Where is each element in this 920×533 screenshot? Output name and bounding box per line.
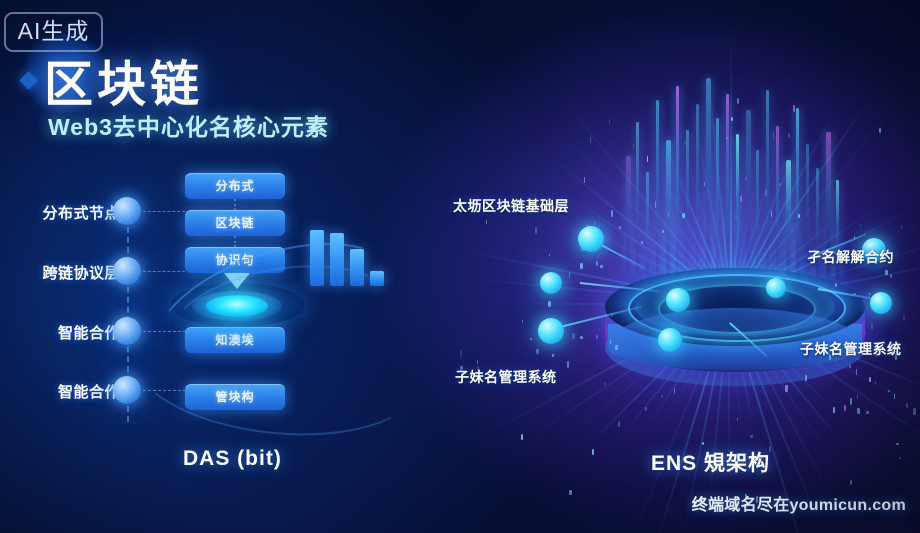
sparkle-dot (879, 128, 881, 133)
sparkle-dot (604, 383, 606, 385)
sparkle-dot (860, 224, 861, 227)
ens-label-base-layer: 太坜区块链基础层 (453, 196, 569, 216)
sparkle-dot (869, 377, 871, 382)
das-connector-2 (143, 271, 185, 272)
sparkle-dot (737, 98, 739, 104)
sparkle-dot (684, 141, 686, 145)
sparkle-dot (737, 418, 738, 421)
das-label-distributed-node: 分布式节点 (0, 202, 120, 223)
sparkle-dot (773, 133, 774, 139)
das-flowlink-1 (234, 199, 236, 210)
sparkle-dot (704, 182, 705, 186)
bar-chart-bar (330, 233, 344, 286)
das-label-smart-contract-2: 智能合作 (0, 381, 120, 402)
sparkle-dot (866, 411, 869, 414)
sparkle-dot (477, 360, 478, 364)
sparkle-dot (567, 361, 569, 368)
ens-node-mid-left[interactable] (540, 272, 562, 294)
sparkle-dot (835, 283, 837, 287)
ens-node-lower-right[interactable] (870, 292, 892, 314)
sparkle-dot (844, 405, 846, 411)
sparkle-dot (785, 385, 788, 392)
sparkle-dot (793, 105, 795, 112)
sparkle-dot (600, 265, 603, 268)
ens-node-upper-left[interactable] (578, 226, 604, 252)
sparkle-dot (702, 442, 704, 445)
sparkle-dot (890, 274, 892, 278)
slide-canvas: 太坜区块链基础层 孑名解解合约 子妹名管理系统 子妹名管理系统 分布式节点 跨链… (0, 0, 920, 533)
ai-generated-badge: AI生成 (4, 12, 103, 52)
sparkle-dot (569, 490, 572, 495)
sparkle-dot (610, 340, 611, 344)
sparkle-dot (682, 213, 685, 218)
sparkle-dot (885, 270, 888, 275)
ens-node-platform-right[interactable] (766, 278, 786, 298)
sparkle-dot (875, 381, 876, 384)
ens-architecture-diagram (430, 60, 920, 480)
das-node-dot-2[interactable] (113, 257, 141, 285)
sparkle-dot (486, 220, 487, 224)
sparkle-dot (647, 156, 648, 162)
sparkle-dot (894, 394, 895, 399)
sparkle-dot (856, 369, 857, 375)
sparkle-dot (590, 137, 591, 143)
sparkle-dot (906, 403, 908, 408)
sparkle-dot (745, 177, 747, 180)
das-flowbox-distributed[interactable]: 分布式 (185, 173, 285, 199)
sparkle-dot (633, 144, 634, 147)
sparkle-particles (430, 60, 920, 480)
sparkle-dot (522, 320, 523, 323)
sparkle-dot (611, 210, 613, 217)
sparkle-dot (869, 293, 870, 295)
sparkle-dot (521, 434, 523, 440)
sparkle-dot (580, 336, 583, 339)
page-subtitle: Web3去中心化名核心元素 (48, 108, 329, 142)
das-label-crosschain-layer: 跨链协议层 (0, 262, 120, 283)
sparkle-dot (584, 177, 585, 183)
sparkle-dot (594, 222, 595, 225)
sparkle-dot (788, 133, 790, 138)
das-flowbox-blockchain[interactable]: 区块链 (185, 210, 285, 236)
sparkle-dot (849, 365, 851, 368)
bar-chart-bar (350, 249, 364, 286)
das-flowlink-2 (234, 236, 236, 247)
sparkle-dot (596, 261, 598, 266)
sparkle-dot (896, 443, 899, 445)
sparkle-dot (536, 349, 539, 354)
sparkle-dot (805, 375, 807, 381)
sparkle-dot (779, 183, 781, 186)
sparkle-dot (899, 457, 901, 459)
das-caption: DAS (bit) (183, 447, 282, 471)
sparkle-dot (548, 301, 551, 307)
ens-node-lower-left[interactable] (538, 318, 564, 344)
sparkle-dot (592, 449, 594, 455)
sparkle-dot (901, 225, 902, 229)
sparkle-dot (596, 335, 598, 339)
sparkle-dot (731, 117, 733, 121)
das-node-dot-1[interactable] (113, 197, 141, 225)
sparkle-dot (641, 241, 643, 244)
das-node-dot-4[interactable] (113, 376, 141, 404)
das-connector-1 (143, 211, 185, 212)
sparkle-dot (674, 388, 675, 394)
ens-caption: ENS 䂓架构 (651, 447, 770, 477)
bar-chart-bar (310, 230, 324, 286)
sparkle-dot (661, 395, 663, 398)
ens-node-center[interactable] (658, 328, 682, 352)
bar-chart (310, 228, 390, 286)
sparkle-dot (750, 435, 753, 438)
sparkle-dot (740, 196, 742, 202)
sparkle-dot (668, 212, 669, 217)
das-label-smart-contract-1: 智能合作 (0, 322, 120, 343)
ens-label-resolver-contract: 孑名解解合约 (807, 247, 894, 267)
sparkle-dot (798, 214, 800, 218)
sparkle-dot (735, 215, 737, 218)
bar-chart-bar (370, 271, 384, 286)
sparkle-dot (552, 354, 554, 357)
sparkle-dot (833, 407, 835, 413)
sparkle-dot (662, 230, 664, 233)
ens-label-subdomain-mgmt-left: 子妹名管理系统 (455, 367, 557, 387)
sparkle-dot (850, 398, 852, 405)
page-title: 区块链 (44, 45, 203, 116)
sparkle-dot (726, 137, 728, 139)
sparkle-dot (569, 272, 570, 278)
sparkle-dot (530, 338, 532, 340)
sparkle-dot (888, 390, 890, 392)
sparkle-dot (549, 254, 550, 256)
sparkle-dot (535, 227, 537, 234)
sparkle-dot (903, 316, 905, 320)
ens-node-center-upper[interactable] (666, 288, 690, 312)
sparkle-dot (645, 407, 647, 411)
sparkle-dot (765, 189, 767, 196)
sparkle-dot (871, 323, 873, 330)
sparkle-dot (850, 480, 852, 485)
sparkle-dot (572, 333, 575, 339)
sparkle-dot (913, 408, 916, 415)
site-watermark: 终端域名尽在youmicun.com (692, 491, 906, 515)
sparkle-dot (857, 395, 858, 399)
sparkle-dot (615, 345, 618, 350)
sparkle-dot (609, 119, 610, 125)
sparkle-dot (655, 201, 656, 208)
sparkle-dot (580, 263, 583, 269)
sparkle-dot (618, 421, 620, 427)
sparkle-dot (771, 211, 772, 217)
sparkle-dot (460, 350, 462, 357)
sparkle-dot (857, 408, 860, 414)
sparkle-dot (619, 226, 621, 229)
ens-label-subdomain-mgmt-right: 子妹名管理系统 (800, 339, 902, 359)
